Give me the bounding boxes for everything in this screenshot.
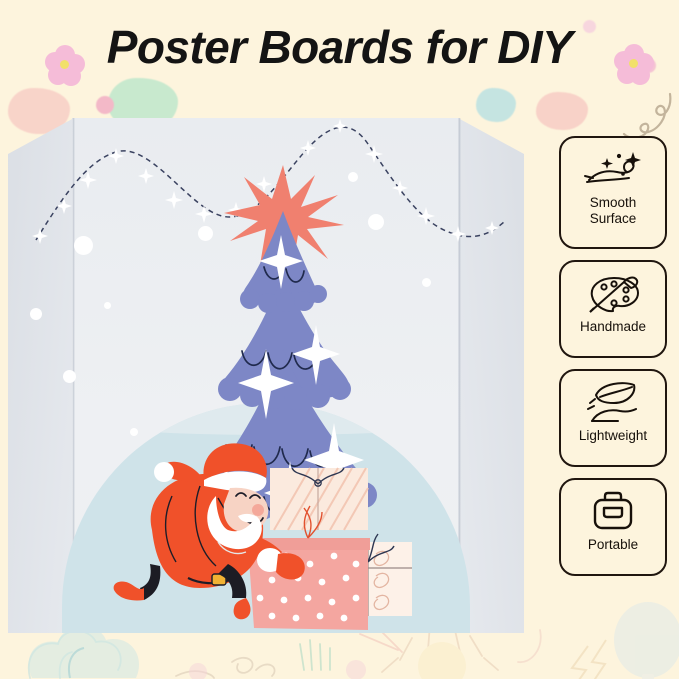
snow-dot — [422, 278, 431, 287]
scribble-teal-topright — [476, 88, 516, 122]
snow-dot — [30, 308, 42, 320]
badge-smooth-surface[interactable]: Smooth Surface — [559, 136, 667, 249]
santa-claus — [100, 438, 320, 623]
santa-mitten — [276, 553, 305, 579]
tri-fold-poster-board[interactable] — [8, 118, 524, 633]
snow-dot — [130, 428, 138, 436]
badge-label: Handmade — [565, 319, 661, 335]
snow-dot — [74, 236, 93, 255]
badge-label: Lightweight — [565, 428, 661, 444]
snow-dot — [104, 302, 111, 309]
screenshot-root: Poster Boards for DIY — [0, 0, 679, 679]
santa-hat-pompom — [154, 462, 174, 482]
santa-cheek — [252, 504, 264, 516]
briefcase-icon — [565, 489, 661, 533]
hand-sparkle-icon — [565, 147, 661, 191]
scribble-pink-dot-top — [96, 96, 114, 114]
badge-portable[interactable]: Portable — [559, 478, 667, 576]
page-title: Poster Boards for DIY — [0, 18, 679, 76]
paint-palette-icon — [565, 271, 661, 315]
badge-label: Smooth Surface — [565, 195, 661, 227]
santa-front-leg — [218, 564, 251, 619]
scribble-pink-topright — [536, 92, 588, 130]
badge-label: Portable — [565, 537, 661, 553]
feature-badge-list: Smooth Surface — [559, 136, 669, 587]
snow-dot — [63, 370, 76, 383]
santa-back-leg — [114, 564, 161, 601]
badge-lightweight[interactable]: Lightweight — [559, 369, 667, 467]
badge-handmade[interactable]: Handmade — [559, 260, 667, 358]
feather-hand-icon — [565, 380, 661, 424]
